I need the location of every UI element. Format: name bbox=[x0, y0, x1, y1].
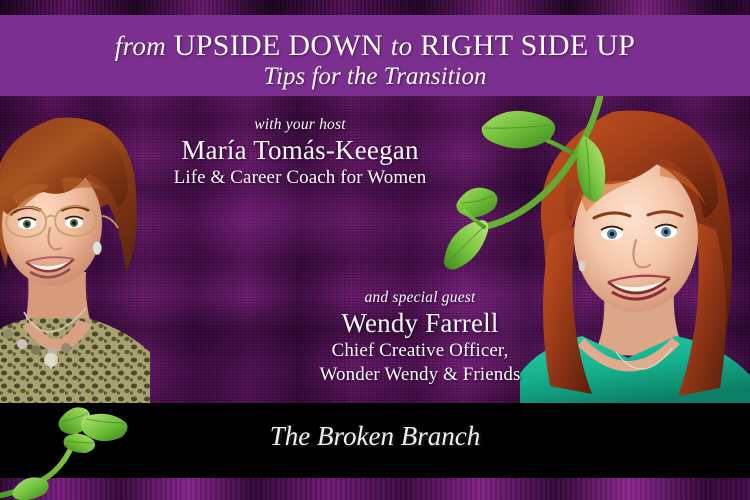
guest-role-line-1: Chief Creative Officer, bbox=[300, 339, 540, 363]
guest-portrait-photo bbox=[520, 96, 750, 403]
guest-name: Wendy Farrell bbox=[300, 307, 540, 339]
guest-role-line-2: Wonder Wendy & Friends bbox=[300, 363, 540, 387]
guest-info-block: and special guest Wendy Farrell Chief Cr… bbox=[300, 288, 540, 387]
banner-subtitle: Tips for the Transition bbox=[0, 63, 750, 91]
host-name: María Tomás-Keegan bbox=[150, 134, 450, 166]
host-info-block: with your host María Tomás-Keegan Life &… bbox=[150, 115, 450, 190]
host-role: Life & Career Coach for Women bbox=[150, 166, 450, 190]
host-eyebrow-label: with your host bbox=[150, 115, 450, 134]
episode-title: The Broken Branch bbox=[0, 421, 750, 452]
guest-eyebrow-label: and special guest bbox=[300, 288, 540, 307]
title-phrase-right-side-up: RIGHT SIDE UP bbox=[420, 29, 635, 62]
title-banner: from UPSIDE DOWN to RIGHT SIDE UP Tips f… bbox=[0, 15, 750, 96]
title-phrase-upside-down: UPSIDE DOWN bbox=[174, 29, 383, 62]
banner-title-line-1: from UPSIDE DOWN to RIGHT SIDE UP bbox=[0, 29, 750, 63]
bottom-texture-strip bbox=[0, 478, 750, 500]
podcast-episode-banner: from UPSIDE DOWN to RIGHT SIDE UP Tips f… bbox=[0, 0, 750, 500]
host-portrait-photo bbox=[0, 96, 150, 403]
title-word-to: to bbox=[391, 31, 413, 61]
title-word-from: from bbox=[115, 31, 166, 61]
top-texture-strip bbox=[0, 0, 750, 15]
episode-title-bar: The Broken Branch bbox=[0, 403, 750, 478]
